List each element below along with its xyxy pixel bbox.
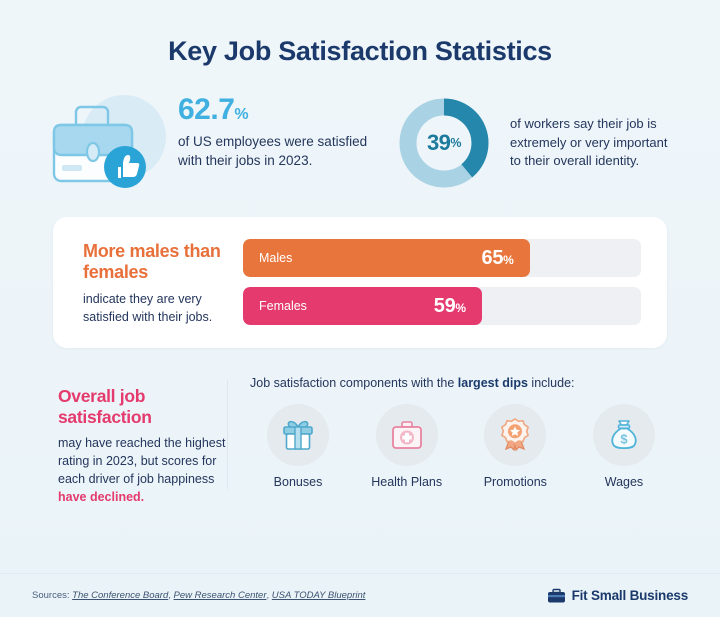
briefcase-thumbs-up-icon xyxy=(42,89,172,197)
section-divider xyxy=(227,380,228,488)
first-aid-kit-icon xyxy=(376,404,438,466)
component-item-bonuses: Bonuses xyxy=(250,404,346,489)
bar-track-males: Males 65% xyxy=(243,239,641,277)
gender-comparison-card: More males than females indicate they ar… xyxy=(53,217,667,348)
overall-body: may have reached the highest rating in 2… xyxy=(58,434,227,507)
gender-bar-chart: Males 65% Females 59% xyxy=(243,237,641,325)
bar-value-females: 59% xyxy=(434,295,482,318)
source-link-1[interactable]: The Conference Board xyxy=(72,590,168,601)
stat-briefcase-text: 62.7% of US employees were satisfied wit… xyxy=(172,89,382,170)
stat-donut-block: 39% of workers say their job is extremel… xyxy=(396,89,678,197)
component-label-promotions: Promotions xyxy=(467,475,563,489)
stat-briefcase-value: 62.7% xyxy=(178,95,382,125)
brand-name: Fit Small Business xyxy=(572,588,688,603)
donut-value-label: 39% xyxy=(396,95,492,191)
component-label-health-plans: Health Plans xyxy=(359,475,455,489)
component-label-bonuses: Bonuses xyxy=(250,475,346,489)
bar-value-males: 65% xyxy=(482,247,530,270)
bar-track-females: Females 59% xyxy=(243,287,641,325)
overall-satisfaction-block: Overall job satisfaction may have reache… xyxy=(42,376,227,506)
brand-logo[interactable]: Fit Small Business xyxy=(547,588,688,604)
stat-donut-description: of workers say their job is extremely or… xyxy=(492,115,678,172)
stat-briefcase-description: of US employees were satisfied with thei… xyxy=(178,132,382,170)
sources-line: Sources: The Conference Board, Pew Resea… xyxy=(32,590,365,601)
components-block: Job satisfaction components with the lar… xyxy=(242,376,678,506)
donut-chart-icon: 39% xyxy=(396,95,492,191)
gender-card-subtext: indicate they are very satisfied with th… xyxy=(83,291,243,326)
briefcase-logo-icon xyxy=(547,588,566,604)
page-title: Key Job Satisfaction Statistics xyxy=(0,0,720,67)
component-item-health-plans: Health Plans xyxy=(359,404,455,489)
bottom-section: Overall job satisfaction may have reache… xyxy=(0,348,720,506)
money-bag-icon: $ xyxy=(593,404,655,466)
component-item-promotions: Promotions xyxy=(467,404,563,489)
bar-label-males: Males xyxy=(243,251,482,265)
bar-fill-males: Males 65% xyxy=(243,239,530,277)
gender-card-heading: More males than females xyxy=(83,241,243,283)
component-label-wages: Wages xyxy=(576,475,672,489)
top-stats-row: 62.7% of US employees were satisfied wit… xyxy=(0,67,720,197)
components-icon-grid: Bonuses Health Plans xyxy=(250,404,678,489)
source-link-2[interactable]: Pew Research Center xyxy=(174,590,267,601)
gender-card-caption: More males than females indicate they ar… xyxy=(83,237,243,326)
stat-briefcase-block: 62.7% of US employees were satisfied wit… xyxy=(42,89,382,197)
infographic-root: Key Job Satisfaction Statistics 62.7% of… xyxy=(0,0,720,617)
award-medal-icon xyxy=(484,404,546,466)
components-heading: Job satisfaction components with the lar… xyxy=(250,376,678,404)
gift-box-icon xyxy=(267,404,329,466)
bar-fill-females: Females 59% xyxy=(243,287,482,325)
component-item-wages: $ Wages xyxy=(576,404,672,489)
svg-text:$: $ xyxy=(620,432,628,447)
footer: Sources: The Conference Board, Pew Resea… xyxy=(0,573,720,617)
bar-label-females: Females xyxy=(243,299,434,313)
overall-heading: Overall job satisfaction xyxy=(58,386,227,426)
sources-label: Sources: xyxy=(32,590,70,601)
overall-accent-text: have declined. xyxy=(58,490,144,504)
source-link-3[interactable]: USA TODAY Blueprint xyxy=(272,590,366,601)
